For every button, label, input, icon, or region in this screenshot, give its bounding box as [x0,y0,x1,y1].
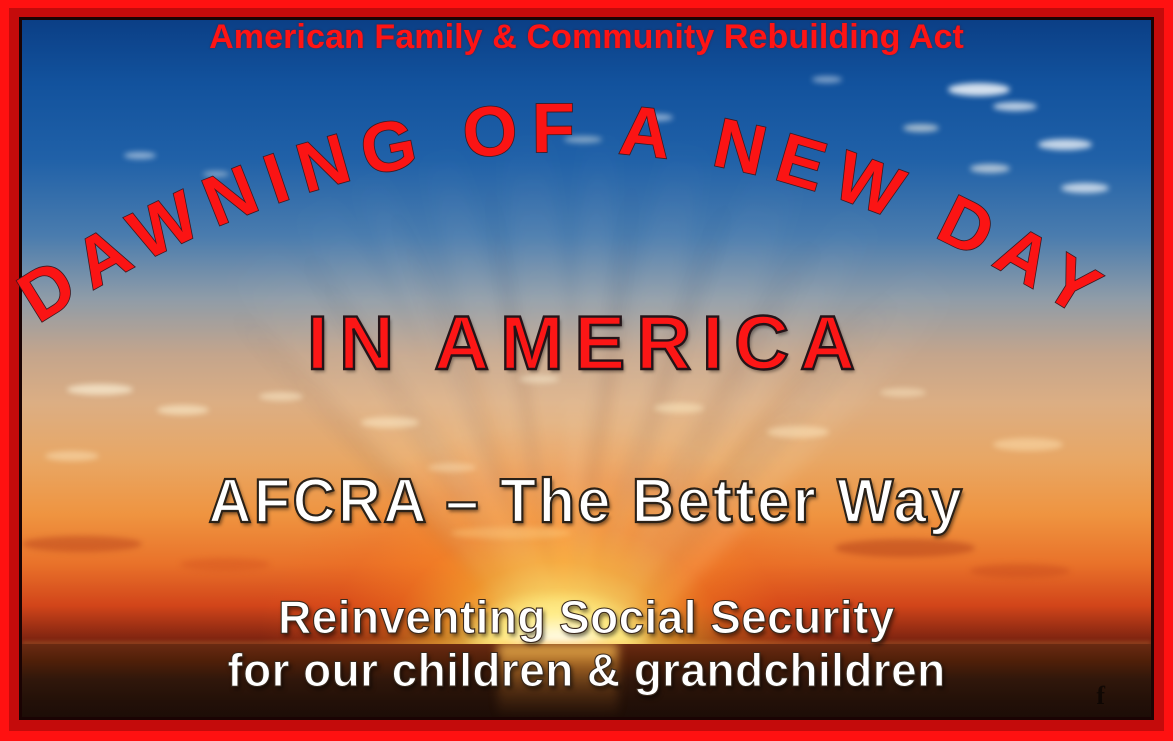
subtitle-line-2: for our children & grandchildren [0,643,1173,697]
corner-watermark-f: f [1096,681,1105,711]
arched-headline: DAWNING OF A NEW DAY [0,52,1129,342]
subtitle-line-1: Reinventing Social Security [0,590,1173,644]
headline-in-america: IN AMERICA [0,300,1173,387]
poster-text-layer: American Family & Community Rebuilding A… [0,0,1173,741]
tagline-afcra: AFCRA – The Better Way [23,466,1149,537]
poster: American Family & Community Rebuilding A… [0,0,1173,741]
